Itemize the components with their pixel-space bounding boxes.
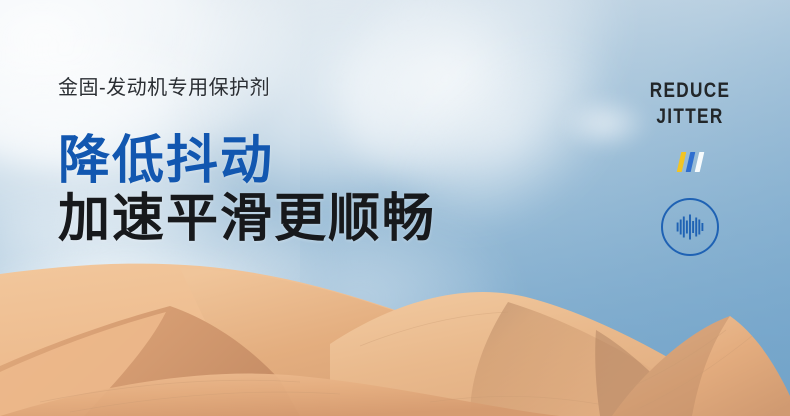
headline-line-1: 降低抖动 <box>58 132 436 190</box>
audio-wave-icon <box>675 213 705 241</box>
promo-banner: 金固-发动机专用保护剂 降低抖动 加速平滑更顺畅 REDUCE JITTER <box>0 0 790 416</box>
headline: 降低抖动 加速平滑更顺畅 <box>58 132 436 248</box>
right-rail: REDUCE JITTER <box>635 78 745 256</box>
copy-block: 金固-发动机专用保护剂 降低抖动 加速平滑更顺畅 <box>58 78 436 248</box>
audio-wave-badge <box>661 198 719 256</box>
rail-word-reduce: REDUCE <box>645 78 735 104</box>
accent-bars <box>635 152 745 174</box>
eyebrow-text: 金固-发动机专用保护剂 <box>58 78 436 98</box>
bar-yellow <box>676 152 686 172</box>
bar-blue <box>685 152 695 172</box>
headline-line-2: 加速平滑更顺畅 <box>58 190 436 248</box>
bar-white <box>694 152 704 172</box>
rail-word-jitter: JITTER <box>645 104 735 130</box>
